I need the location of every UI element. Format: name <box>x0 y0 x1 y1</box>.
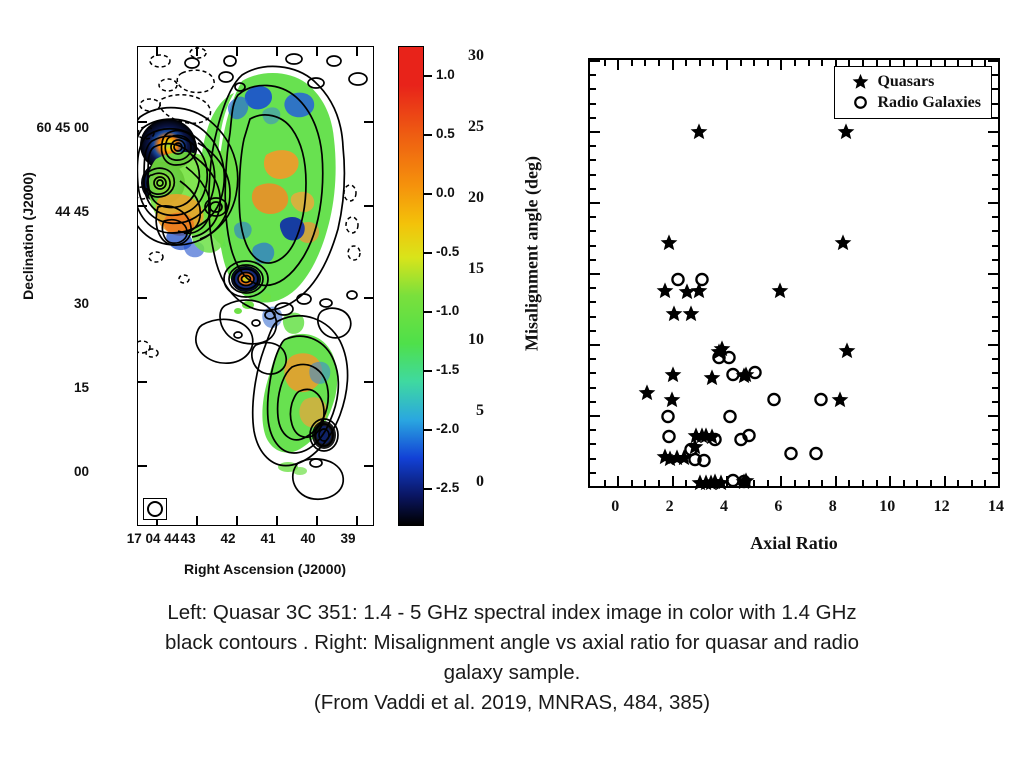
cb-label-1: 0.5 <box>436 126 455 141</box>
lp-ytick-mark-1 <box>138 205 147 207</box>
scatter-ytick-minor <box>590 174 596 176</box>
radio-galaxy-point <box>740 427 758 450</box>
left-panel-xtick-1: 43 <box>166 531 210 546</box>
cb-tick-5 <box>424 370 432 372</box>
scatter-ytick-minor <box>590 443 596 445</box>
cb-label-7: -2.5 <box>436 480 459 495</box>
scatter-ytick-label-20: 20 <box>468 189 484 207</box>
scatter-ytick-15 <box>590 273 600 275</box>
quasar-point <box>834 233 852 256</box>
lp-ytick-mark-r3 <box>364 381 373 383</box>
circle-icon <box>843 94 877 111</box>
scatter-xtick-minor <box>848 480 850 486</box>
legend-entry-quasars: Quasars <box>843 71 981 92</box>
scatter-xtick-minor <box>644 480 646 486</box>
scatter-xtick-minor <box>794 60 796 66</box>
left-panel-ytick-4: 00 <box>74 464 89 479</box>
lp-xtick-mark-t2 <box>236 47 238 56</box>
scatter-ytick-minor <box>590 88 596 90</box>
scatter-ytick-minor <box>992 358 998 360</box>
left-panel-plot-frame <box>137 46 374 526</box>
scatter-ytick-30 <box>988 60 998 62</box>
scatter-xtick-label-10: 10 <box>862 498 912 516</box>
scatter-ytick-minor <box>590 429 596 431</box>
cb-label-3: -0.5 <box>436 244 459 259</box>
scatter-ytick-minor <box>590 245 596 247</box>
legend-label-radio-galaxies: Radio Galaxies <box>877 94 981 112</box>
scatter-xtick-8 <box>835 476 837 486</box>
lp-ytick-mark-2 <box>138 297 147 299</box>
scatter-ytick-label-25: 25 <box>468 118 484 136</box>
caption-line-1: Left: Quasar 3C 351: 1.4 - 5 GHz spectra… <box>30 598 994 628</box>
scatter-xtick-14 <box>998 476 1000 486</box>
scatter-xtick-minor <box>808 60 810 66</box>
left-panel-xtick-2: 42 <box>206 531 250 546</box>
scatter-ytick-minor <box>992 103 998 105</box>
scatter-ytick-minor <box>992 429 998 431</box>
lp-ytick-mark-r0 <box>364 121 373 123</box>
cb-label-2: 0.0 <box>436 185 455 200</box>
scatter-xtick-minor <box>821 480 823 486</box>
scatter-xtick-minor <box>821 60 823 66</box>
scatter-xtick-2 <box>672 476 674 486</box>
quasar-point <box>660 233 678 256</box>
caption-line-2: black contours . Right: Misalignment ang… <box>30 628 994 658</box>
left-panel-xtick-3: 41 <box>246 531 290 546</box>
cb-tick-0 <box>424 75 432 77</box>
scatter-ytick-minor <box>590 387 596 389</box>
quasar-point <box>771 281 789 304</box>
scatter-ytick-minor <box>992 401 998 403</box>
scatter-xtick-label-6: 6 <box>753 498 803 516</box>
scatter-xtick-minor <box>767 480 769 486</box>
lp-ytick-mark-r4 <box>364 465 373 467</box>
cb-label-4: -1.0 <box>436 303 459 318</box>
cb-tick-1 <box>424 134 432 136</box>
lp-ytick-mark-0 <box>138 121 147 123</box>
scatter-ytick-minor <box>992 443 998 445</box>
scatter-ytick-minor <box>590 216 596 218</box>
left-panel-spectral-index-map: Declination (J2000) Right Ascension (J20… <box>0 28 470 568</box>
legend-entry-radio-galaxies: Radio Galaxies <box>843 92 981 113</box>
scatter-xtick-minor <box>957 480 959 486</box>
quasar-point <box>682 304 700 327</box>
scatter-xtick-minor <box>740 60 742 66</box>
scatter-xtick-minor <box>685 60 687 66</box>
scatter-ytick-minor <box>590 316 596 318</box>
scatter-xtick-6 <box>780 60 782 70</box>
cb-tick-3 <box>424 252 432 254</box>
scatter-xtick-minor <box>658 480 660 486</box>
scatter-xtick-2 <box>672 60 674 70</box>
left-panel-ytick-3: 15 <box>74 380 89 395</box>
scatter-ytick-20 <box>590 202 600 204</box>
scatter-x-axis-label: Axial Ratio <box>588 533 1000 554</box>
scatter-xtick-minor <box>631 480 633 486</box>
radio-galaxy-point <box>669 270 687 293</box>
quasar-point <box>665 304 683 327</box>
scatter-ytick-minor <box>590 159 596 161</box>
scatter-xtick-label-2: 2 <box>645 498 695 516</box>
legend-label-quasars: Quasars <box>877 73 934 91</box>
scatter-ytick-label-15: 15 <box>468 260 484 278</box>
beam-box <box>143 498 167 520</box>
scatter-xtick-minor <box>984 480 986 486</box>
scatter-ytick-minor <box>992 174 998 176</box>
scatter-xtick-minor <box>685 480 687 486</box>
scatter-ytick-15 <box>988 273 998 275</box>
scatter-ytick-minor <box>992 117 998 119</box>
scatter-xtick-minor <box>658 60 660 66</box>
left-panel-ytick-1: 44 45 <box>55 204 89 219</box>
scatter-ytick-minor <box>992 159 998 161</box>
scatter-ytick-minor <box>590 401 596 403</box>
radio-galaxy-point <box>660 428 678 451</box>
quasar-point <box>838 341 856 364</box>
radio-galaxy-point <box>735 472 753 495</box>
lp-ytick-mark-3 <box>138 381 147 383</box>
scatter-xtick-minor <box>862 480 864 486</box>
left-panel-ytick-0: 60 45 00 <box>36 120 89 135</box>
left-panel-x-axis-label: Right Ascension (J2000) <box>130 561 400 577</box>
lp-xtick-mark-t3 <box>276 47 278 56</box>
scatter-xtick-minor <box>631 60 633 66</box>
cb-tick-4 <box>424 311 432 313</box>
cb-label-0: 1.0 <box>436 67 455 82</box>
right-panel-scatter-plot: Misalignment angle (deg) Axial Ratio 051… <box>470 28 1024 588</box>
scatter-xtick-minor <box>903 480 905 486</box>
scatter-xtick-label-8: 8 <box>808 498 858 516</box>
scatter-ytick-label-10: 10 <box>468 331 484 349</box>
caption-line-3: galaxy sample. <box>30 658 994 688</box>
lp-ytick-mark-4 <box>138 465 147 467</box>
scatter-ytick-minor <box>992 145 998 147</box>
cb-tick-2 <box>424 193 432 195</box>
scatter-ytick-minor <box>590 287 596 289</box>
scatter-ytick-25 <box>988 131 998 133</box>
left-panel-xtick-5: 39 <box>326 531 370 546</box>
scatter-ytick-minor <box>992 472 998 474</box>
scatter-ytick-minor <box>590 358 596 360</box>
scatter-xtick-4 <box>726 60 728 70</box>
scatter-xtick-12 <box>944 476 946 486</box>
beam-ellipse-icon <box>147 501 163 517</box>
scatter-xtick-minor <box>604 60 606 66</box>
lp-xtick-mark-5 <box>356 516 358 525</box>
lp-xtick-mark-t0 <box>156 47 158 56</box>
scatter-y-axis-label: Misalignment angle (deg) <box>522 64 543 444</box>
scatter-ytick-minor <box>590 103 596 105</box>
radio-galaxy-point <box>807 445 825 468</box>
quasar-point <box>664 365 682 388</box>
scatter-ytick-minor <box>992 74 998 76</box>
colorbar-wrapper: 1.0 0.5 0.0 -0.5 -1.0 -1.5 -2.0 -2.5 <box>398 46 424 526</box>
scatter-ytick-minor <box>590 472 596 474</box>
radio-galaxy-point <box>812 391 830 414</box>
scatter-ytick-10 <box>988 344 998 346</box>
scatter-ytick-0 <box>590 486 600 488</box>
scatter-xtick-label-14: 14 <box>971 498 1021 516</box>
scatter-ytick-minor <box>590 74 596 76</box>
scatter-ytick-minor <box>992 372 998 374</box>
figure-container: Declination (J2000) Right Ascension (J20… <box>0 0 1024 768</box>
scatter-xtick-0 <box>617 60 619 70</box>
lp-xtick-mark-3 <box>276 516 278 525</box>
scatter-xtick-minor <box>808 480 810 486</box>
lp-xtick-mark-4 <box>316 516 318 525</box>
scatter-ytick-label-0: 0 <box>476 473 484 491</box>
scatter-xtick-minor <box>753 60 755 66</box>
scatter-xtick-label-4: 4 <box>699 498 749 516</box>
scatter-xtick-minor <box>930 480 932 486</box>
lp-xtick-mark-2 <box>236 516 238 525</box>
scatter-ytick-minor <box>992 387 998 389</box>
scatter-xtick-minor <box>971 480 973 486</box>
scatter-xtick-minor <box>644 60 646 66</box>
scatter-ytick-minor <box>992 88 998 90</box>
lp-xtick-mark-t4 <box>316 47 318 56</box>
left-panel-xtick-4: 40 <box>286 531 330 546</box>
radio-map-image <box>138 47 372 524</box>
scatter-ytick-minor <box>590 145 596 147</box>
scatter-ytick-minor <box>992 301 998 303</box>
scatter-xtick-minor <box>699 60 701 66</box>
scatter-ytick-minor <box>992 230 998 232</box>
scatter-xtick-minor <box>604 480 606 486</box>
scatter-xtick-label-12: 12 <box>917 498 967 516</box>
quasar-point <box>690 122 708 145</box>
scatter-ytick-label-30: 30 <box>468 47 484 65</box>
scatter-ytick-minor <box>992 245 998 247</box>
scatter-xtick-minor <box>767 60 769 66</box>
scatter-ytick-5 <box>988 415 998 417</box>
spectral-index-colorbar <box>398 46 424 526</box>
scatter-ytick-minor <box>590 301 596 303</box>
scatter-ytick-minor <box>590 188 596 190</box>
radio-galaxy-point <box>706 430 724 453</box>
scatter-xtick-minor <box>794 480 796 486</box>
lp-ytick-mark-r2 <box>364 297 373 299</box>
radio-galaxy-point <box>724 365 742 388</box>
scatter-legend: Quasars Radio Galaxies <box>834 66 992 119</box>
cb-label-5: -1.5 <box>436 362 459 377</box>
lp-xtick-mark-1 <box>196 516 198 525</box>
scatter-ytick-minor <box>992 188 998 190</box>
figure-caption: Left: Quasar 3C 351: 1.4 - 5 GHz spectra… <box>30 598 994 718</box>
scatter-ytick-25 <box>590 131 600 133</box>
scatter-ytick-minor <box>992 216 998 218</box>
scatter-xtick-14 <box>998 60 1000 70</box>
mid-compact-knot <box>231 266 261 292</box>
scatter-xtick-0 <box>617 476 619 486</box>
scatter-ytick-minor <box>590 330 596 332</box>
left-panel-y-axis-label: Declination (J2000) <box>20 136 36 336</box>
scatter-ytick-minor <box>590 117 596 119</box>
quasar-point <box>703 368 721 391</box>
scatter-ytick-minor <box>992 259 998 261</box>
scatter-ytick-minor <box>590 259 596 261</box>
scatter-ytick-0 <box>988 486 998 488</box>
lp-ytick-mark-r1 <box>364 205 373 207</box>
scatter-ytick-minor <box>992 458 998 460</box>
scatter-ytick-minor <box>590 372 596 374</box>
scatter-xtick-minor <box>916 480 918 486</box>
scatter-ytick-label-5: 5 <box>476 402 484 420</box>
quasar-point <box>638 384 656 407</box>
quasar-point <box>831 391 849 414</box>
cb-tick-6 <box>424 429 432 431</box>
scatter-xtick-10 <box>889 476 891 486</box>
radio-galaxy-point <box>695 452 713 475</box>
scatter-ytick-minor <box>992 330 998 332</box>
scatter-xtick-6 <box>780 476 782 486</box>
radio-galaxy-point <box>765 391 783 414</box>
radio-galaxy-point <box>693 270 711 293</box>
radio-galaxy-point <box>721 408 739 431</box>
scatter-xtick-label-0: 0 <box>590 498 640 516</box>
quasar-point <box>837 122 855 145</box>
cb-tick-7 <box>424 488 432 490</box>
lp-xtick-mark-t1 <box>196 47 198 56</box>
scatter-ytick-minor <box>992 316 998 318</box>
cb-label-6: -2.0 <box>436 421 459 436</box>
scatter-ytick-5 <box>590 415 600 417</box>
star-icon <box>843 73 877 90</box>
scatter-ytick-30 <box>590 60 600 62</box>
scatter-ytick-minor <box>590 458 596 460</box>
scatter-ytick-20 <box>988 202 998 204</box>
scatter-ytick-minor <box>590 230 596 232</box>
left-panel-ytick-2: 30 <box>74 296 89 311</box>
scatter-xtick-minor <box>712 60 714 66</box>
scatter-ytick-minor <box>992 287 998 289</box>
radio-galaxy-point <box>746 364 764 387</box>
scatter-plot-frame: Quasars Radio Galaxies <box>588 58 1000 488</box>
radio-galaxy-point <box>782 445 800 468</box>
lp-xtick-mark-t5 <box>356 47 358 56</box>
scatter-ytick-10 <box>590 344 600 346</box>
scatter-xtick-minor <box>876 480 878 486</box>
caption-line-4: (From Vaddi et al. 2019, MNRAS, 484, 385… <box>30 688 994 718</box>
